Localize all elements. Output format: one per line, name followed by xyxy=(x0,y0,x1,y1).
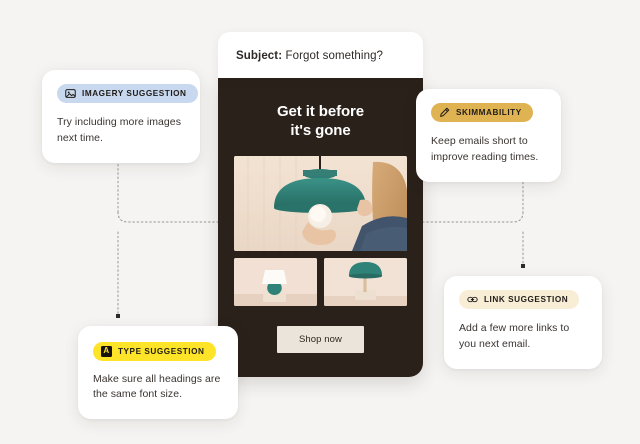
suggestion-board: Subject: Forgot something? Get it before… xyxy=(0,0,640,444)
card-link-suggestion[interactable]: LINK SUGGESTION Add a few more links to … xyxy=(444,276,602,369)
thumbnail-row xyxy=(234,258,407,306)
email-preview: Subject: Forgot something? Get it before… xyxy=(218,32,423,377)
card-imagery-text: Try including more images next time. xyxy=(57,115,185,147)
badge-imagery-suggestion: IMAGERY SUGGESTION xyxy=(57,84,198,103)
letter-a-icon: A xyxy=(101,346,112,357)
image-icon xyxy=(65,88,76,99)
email-headline-line-2: it's gone xyxy=(234,121,407,140)
email-headline-line-1: Get it before xyxy=(234,102,407,121)
connector-right-branch xyxy=(423,212,523,222)
badge-link-suggestion: LINK SUGGESTION xyxy=(459,290,579,309)
connector-dot-link xyxy=(521,264,525,268)
email-subject-value: Forgot something? xyxy=(285,50,383,62)
card-skimmability[interactable]: SKIMMABILITY Keep emails short to improv… xyxy=(416,89,561,182)
badge-link-label: LINK SUGGESTION xyxy=(484,295,568,304)
hero-product-image xyxy=(234,156,407,251)
email-subject-bar: Subject: Forgot something? xyxy=(218,32,423,78)
card-link-text: Add a few more links to you next email. xyxy=(459,321,587,353)
link-icon xyxy=(467,294,478,305)
shop-now-button[interactable]: Shop now xyxy=(277,326,364,353)
badge-imagery-label: IMAGERY SUGGESTION xyxy=(82,89,187,98)
email-headline: Get it before it's gone xyxy=(234,102,407,140)
pencil-icon xyxy=(439,107,450,118)
card-imagery-suggestion[interactable]: IMAGERY SUGGESTION Try including more im… xyxy=(42,70,200,163)
letter-a-glyph: A xyxy=(101,346,112,357)
card-skimmability-text: Keep emails short to improve reading tim… xyxy=(431,134,546,166)
badge-skimmability: SKIMMABILITY xyxy=(431,103,533,122)
connector-left-branch xyxy=(118,212,218,222)
connector-dot-type xyxy=(116,314,120,318)
email-subject-label: Subject: xyxy=(236,50,282,62)
cta-wrapper: Shop now xyxy=(234,326,407,353)
card-type-suggestion[interactable]: A TYPE SUGGESTION Make sure all headings… xyxy=(78,326,238,419)
badge-type-label: TYPE SUGGESTION xyxy=(118,347,205,356)
thumbnail-table-lamp xyxy=(234,258,317,306)
card-type-text: Make sure all headings are the same font… xyxy=(93,372,223,404)
badge-skimmability-label: SKIMMABILITY xyxy=(456,108,522,117)
thumbnail-dome-lamp xyxy=(324,258,407,306)
email-body: Get it before it's gone xyxy=(218,78,423,377)
badge-type-suggestion: A TYPE SUGGESTION xyxy=(93,342,216,361)
